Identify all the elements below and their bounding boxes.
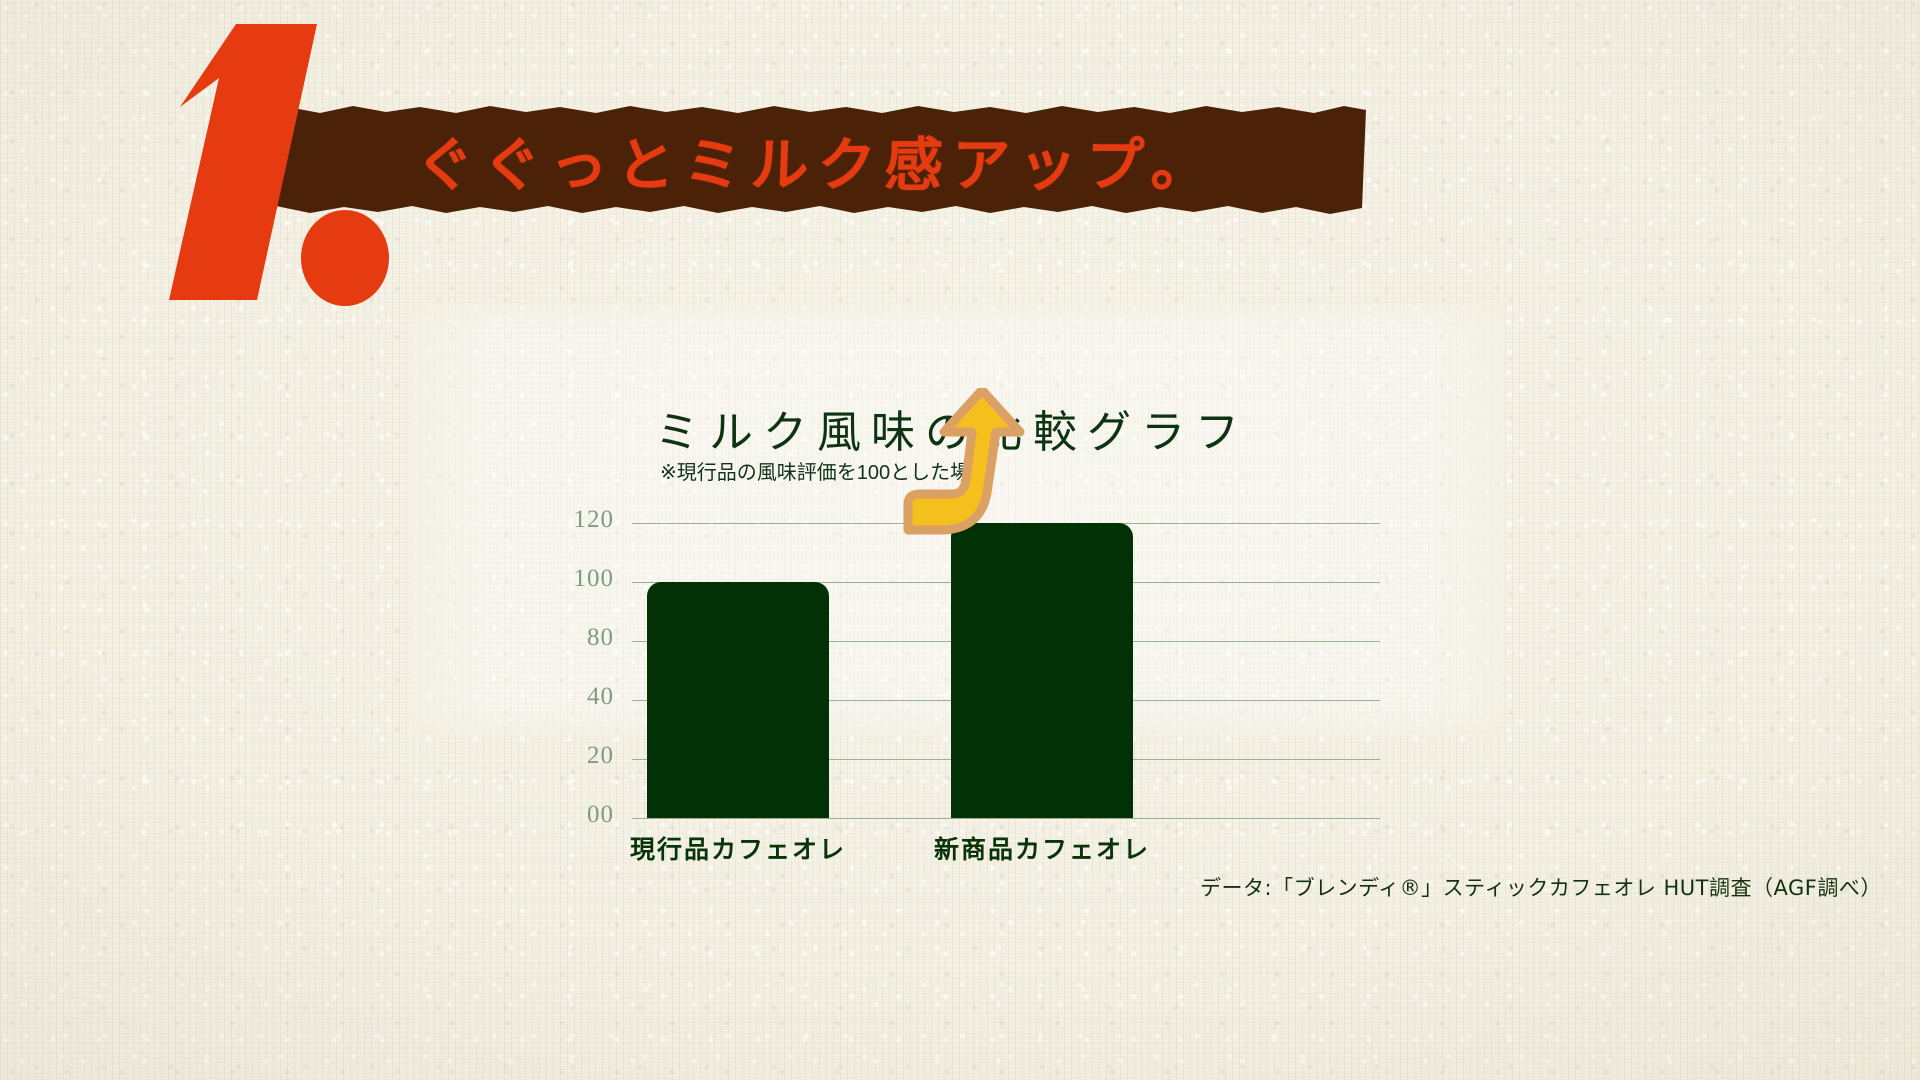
y-axis-tick-label: 40 [544,683,614,711]
x-axis-category-label: 新商品カフェオレ [872,830,1212,866]
y-axis-tick-label: 20 [544,742,614,770]
gridline [632,818,1380,819]
y-axis-tick-label: 120 [544,506,614,534]
step-number-graphic [139,8,439,308]
bar [951,523,1133,818]
y-axis-tick-label: 100 [544,565,614,593]
x-axis-category-label: 現行品カフェオレ [568,830,908,866]
upward-arrow-icon [900,388,1060,548]
y-axis-tick-label: 80 [544,624,614,652]
data-source-footnote: データ:「ブレンディ®」スティックカフェオレ HUT調査（AGF調べ） [1200,872,1882,902]
bar [647,582,829,818]
y-axis-tick-label: 00 [544,801,614,829]
